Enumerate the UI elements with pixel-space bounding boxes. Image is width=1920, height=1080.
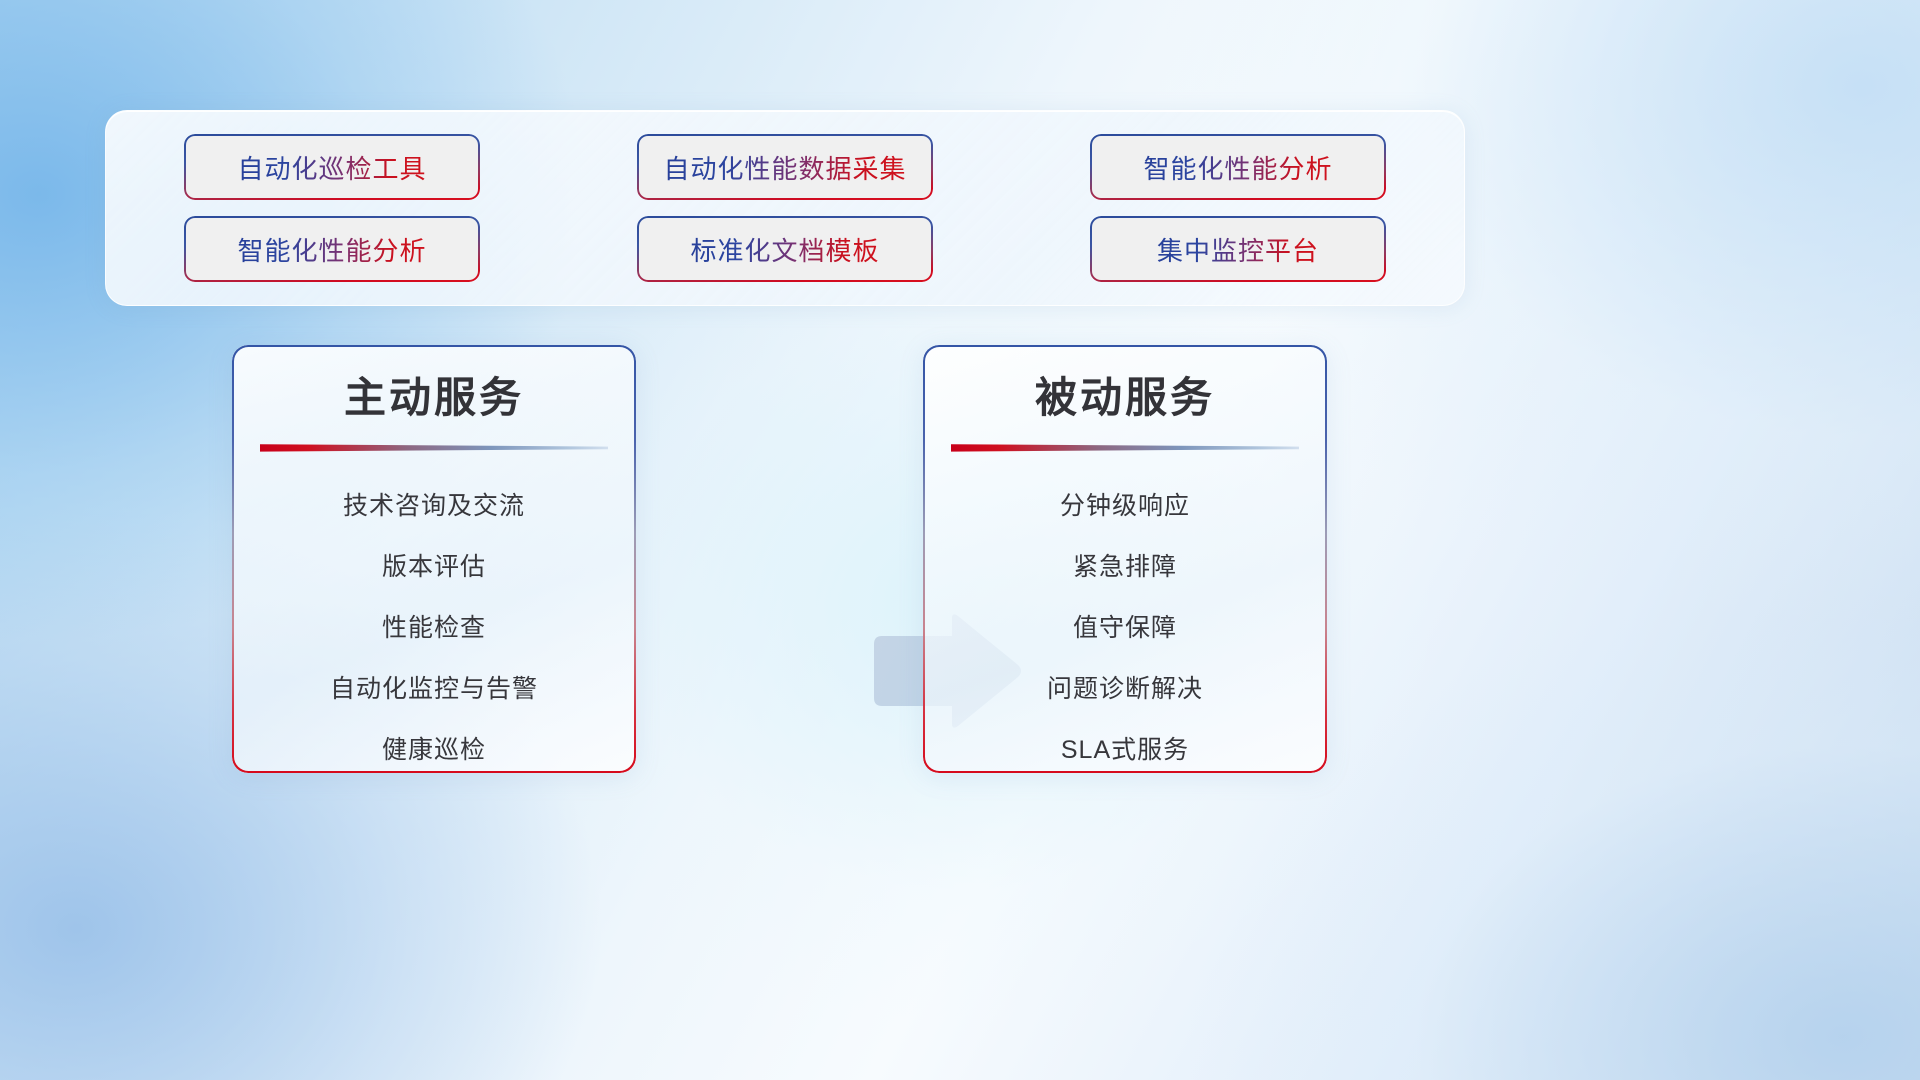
card-title: 被动服务 [1035,373,1215,423]
card-list-item: 紧急排障 [1073,547,1177,583]
slide-canvas: 自动化巡检工具 自动化性能数据采集 智能化性能分析 智能化性能分析 标准化文档模… [0,0,1920,1080]
card-divider [260,443,608,452]
capability-pill-label: 智能化性能分析 [1143,149,1332,186]
capability-panel: 自动化巡检工具 自动化性能数据采集 智能化性能分析 智能化性能分析 标准化文档模… [105,110,1465,306]
capability-pill-label: 自动化性能数据采集 [663,149,906,186]
capability-pill[interactable]: 自动化性能数据采集 [639,136,931,198]
capability-pill-label: 自动化巡检工具 [237,149,426,186]
card-list-item: SLA式服务 [1061,730,1189,766]
card-title: 主动服务 [344,373,524,423]
service-card-passive[interactable]: 被动服务 分钟级响应 紧急排障 值守保障 [923,345,1327,773]
card-list-item: 自动化监控与告警 [330,669,538,705]
service-card-active[interactable]: 主动服务 技术咨询及交流 版本评估 性能检查 [232,345,636,773]
capability-pill[interactable]: 智能化性能分析 [1092,136,1384,198]
capability-pill[interactable]: 自动化巡检工具 [186,136,478,198]
card-divider [951,443,1299,452]
capability-pill-label: 智能化性能分析 [237,231,426,268]
capability-pill-label: 集中监控平台 [1157,231,1319,268]
card-list-item: 版本评估 [382,547,486,583]
capability-pill[interactable]: 集中监控平台 [1092,218,1384,280]
card-list-item: 性能检查 [382,608,486,644]
card-item-list: 技术咨询及交流 版本评估 性能检查 自动化监控与告警 健康巡检 [254,486,614,766]
card-list-item: 分钟级响应 [1060,486,1190,522]
capability-row-1: 自动化巡检工具 自动化性能数据采集 智能化性能分析 [186,136,1384,198]
card-list-item: 技术咨询及交流 [343,486,525,522]
card-list-item: 值守保障 [1073,608,1177,644]
card-item-list: 分钟级响应 紧急排障 值守保障 问题诊断解决 SLA式服务 [945,486,1305,766]
capability-row-2: 智能化性能分析 标准化文档模板 集中监控平台 [186,218,1384,280]
capability-pill[interactable]: 标准化文档模板 [639,218,931,280]
capability-pill[interactable]: 智能化性能分析 [186,218,478,280]
card-list-item: 问题诊断解决 [1047,669,1203,705]
card-list-item: 健康巡检 [382,730,486,766]
capability-pill-label: 标准化文档模板 [690,231,879,268]
